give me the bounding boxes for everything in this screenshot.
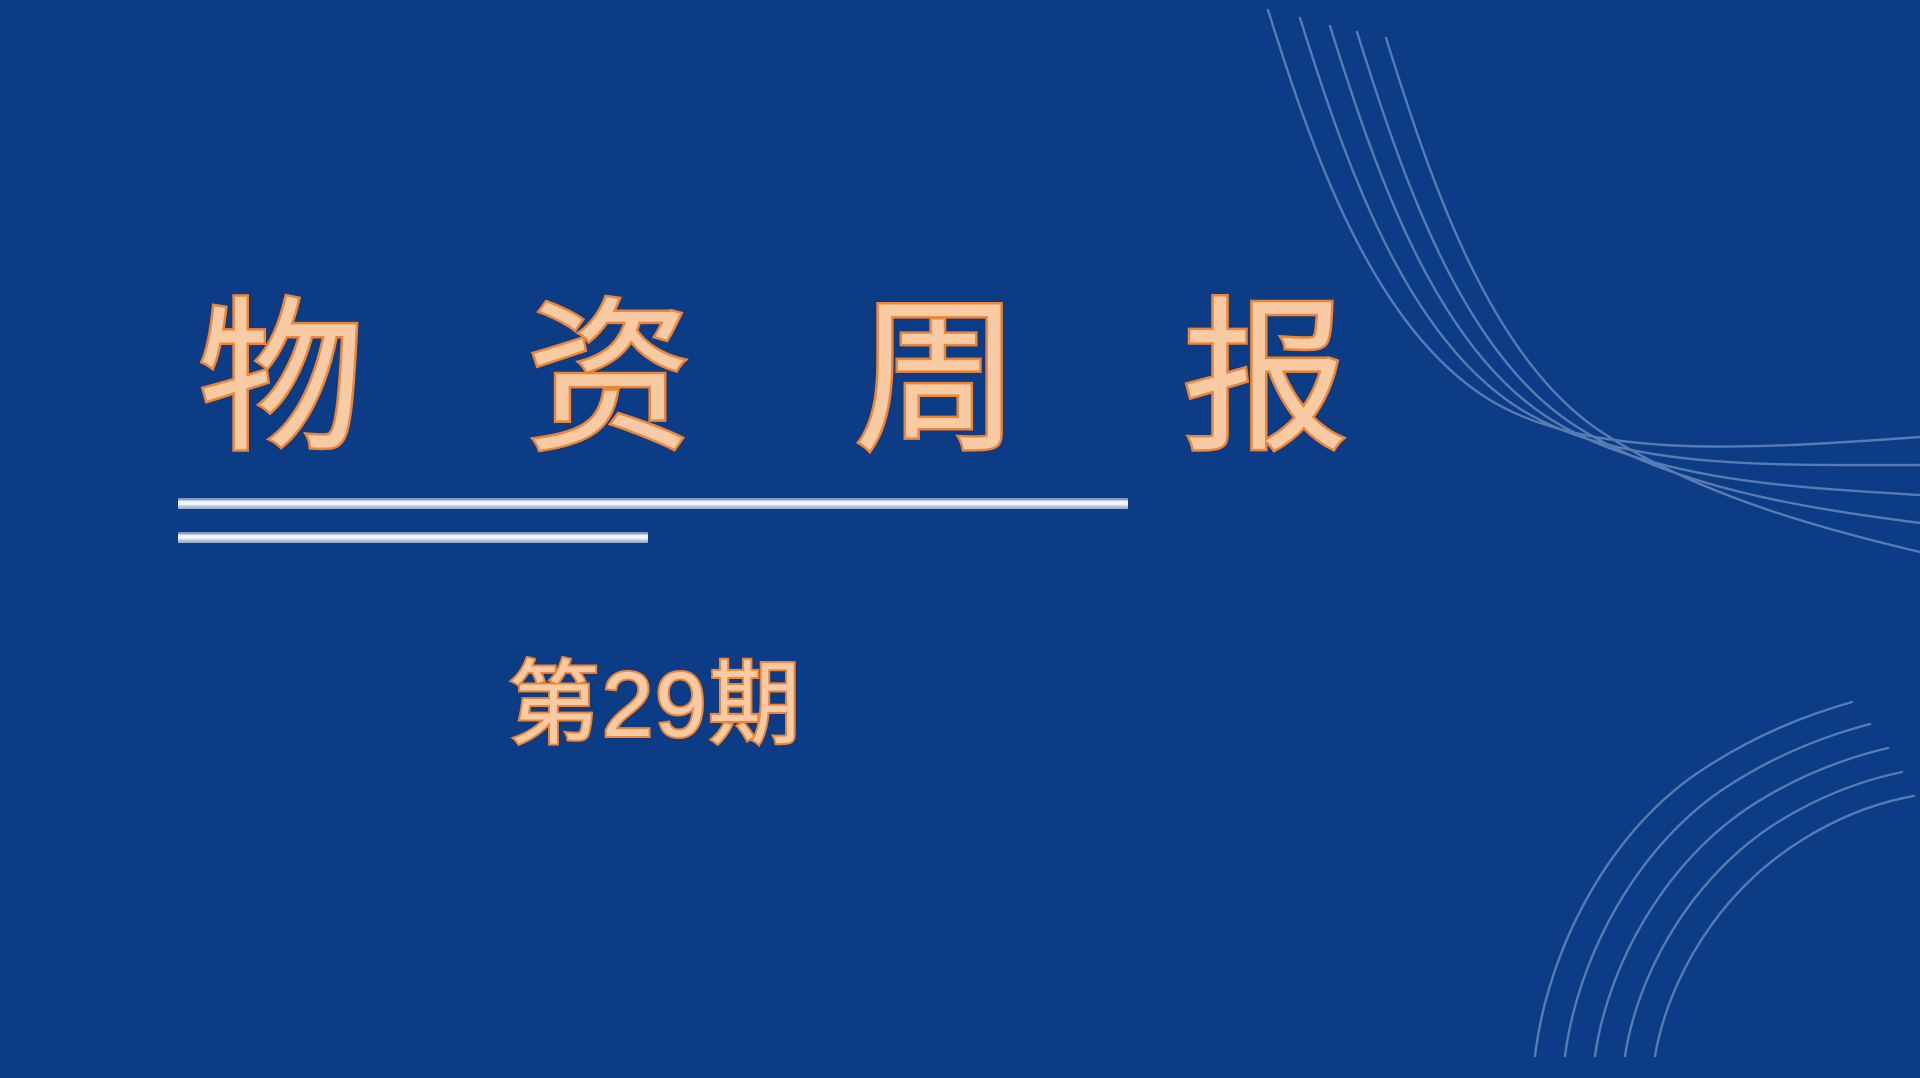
bottom-right-curve-decoration <box>1440 678 1920 1078</box>
arc-line-2 <box>1565 724 1870 1056</box>
arc-line-3 <box>1595 748 1888 1056</box>
arc-line-1 <box>1535 702 1852 1056</box>
title-block: 物 资 周 报 <box>178 290 1178 469</box>
arc-line-4 <box>1625 772 1902 1056</box>
title-underline-short <box>178 532 648 543</box>
slide-canvas: 物 资 周 报 第29期 <box>0 0 1920 1078</box>
curve-line-5 <box>1386 38 1920 552</box>
title-underline-group <box>178 498 1128 543</box>
page-title: 物 资 周 报 <box>178 290 1178 469</box>
curve-line-4 <box>1357 32 1920 523</box>
title-underline-long <box>178 498 1128 509</box>
issue-subtitle: 第29期 <box>508 650 802 760</box>
curve-line-3 <box>1330 26 1920 495</box>
arc-line-5 <box>1655 796 1914 1056</box>
